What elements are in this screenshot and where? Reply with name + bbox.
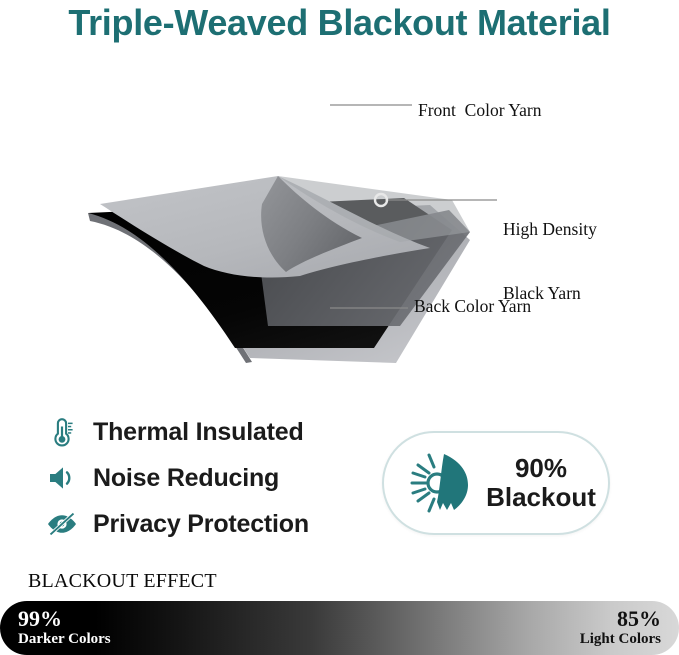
blackout-effect-gradient-bar: 99% Darker Colors 85% Light Colors bbox=[0, 601, 679, 655]
feature-label-noise: Noise Reducing bbox=[93, 464, 279, 493]
callout-label-back: Back Color Yarn bbox=[414, 296, 531, 317]
blackout-effect-heading: BLACKOUT EFFECT bbox=[28, 570, 217, 593]
blackout-caption: Blackout bbox=[482, 483, 600, 512]
darker-colors-caption: Darker Colors bbox=[18, 631, 111, 647]
speaker-sound-icon bbox=[42, 459, 82, 497]
callout-label-high-density: High Density Black Yarn bbox=[503, 176, 597, 347]
feature-item-thermal: Thermal Insulated bbox=[42, 410, 362, 454]
fabric-layers-diagram: Front Color Yarn High Density Black Yarn… bbox=[0, 80, 679, 365]
callout-label-front: Front Color Yarn bbox=[418, 100, 542, 121]
page-title: Triple-Weaved Blackout Material bbox=[0, 2, 679, 44]
eye-slash-icon bbox=[42, 505, 82, 543]
light-colors-percent: 85% bbox=[580, 607, 661, 631]
feature-item-privacy: Privacy Protection bbox=[42, 502, 362, 546]
blackout-badge: 90% Blackout bbox=[382, 431, 610, 535]
callout-label-high-density-line1: High Density bbox=[503, 219, 597, 240]
feature-list: Thermal Insulated Noise Reducing Privacy… bbox=[42, 410, 362, 548]
thermometer-icon bbox=[42, 413, 82, 451]
sun-behind-curtain-icon bbox=[384, 448, 482, 518]
light-colors-caption: Light Colors bbox=[580, 631, 661, 647]
feature-label-thermal: Thermal Insulated bbox=[93, 418, 304, 447]
feature-label-privacy: Privacy Protection bbox=[93, 510, 309, 539]
gradient-bar-left-stat: 99% Darker Colors bbox=[18, 607, 111, 647]
gradient-bar-right-stat: 85% Light Colors bbox=[580, 607, 661, 647]
blackout-badge-text: 90% Blackout bbox=[482, 454, 608, 512]
darker-colors-percent: 99% bbox=[18, 607, 111, 631]
feature-item-noise: Noise Reducing bbox=[42, 456, 362, 500]
blackout-percent: 90% bbox=[482, 454, 600, 483]
